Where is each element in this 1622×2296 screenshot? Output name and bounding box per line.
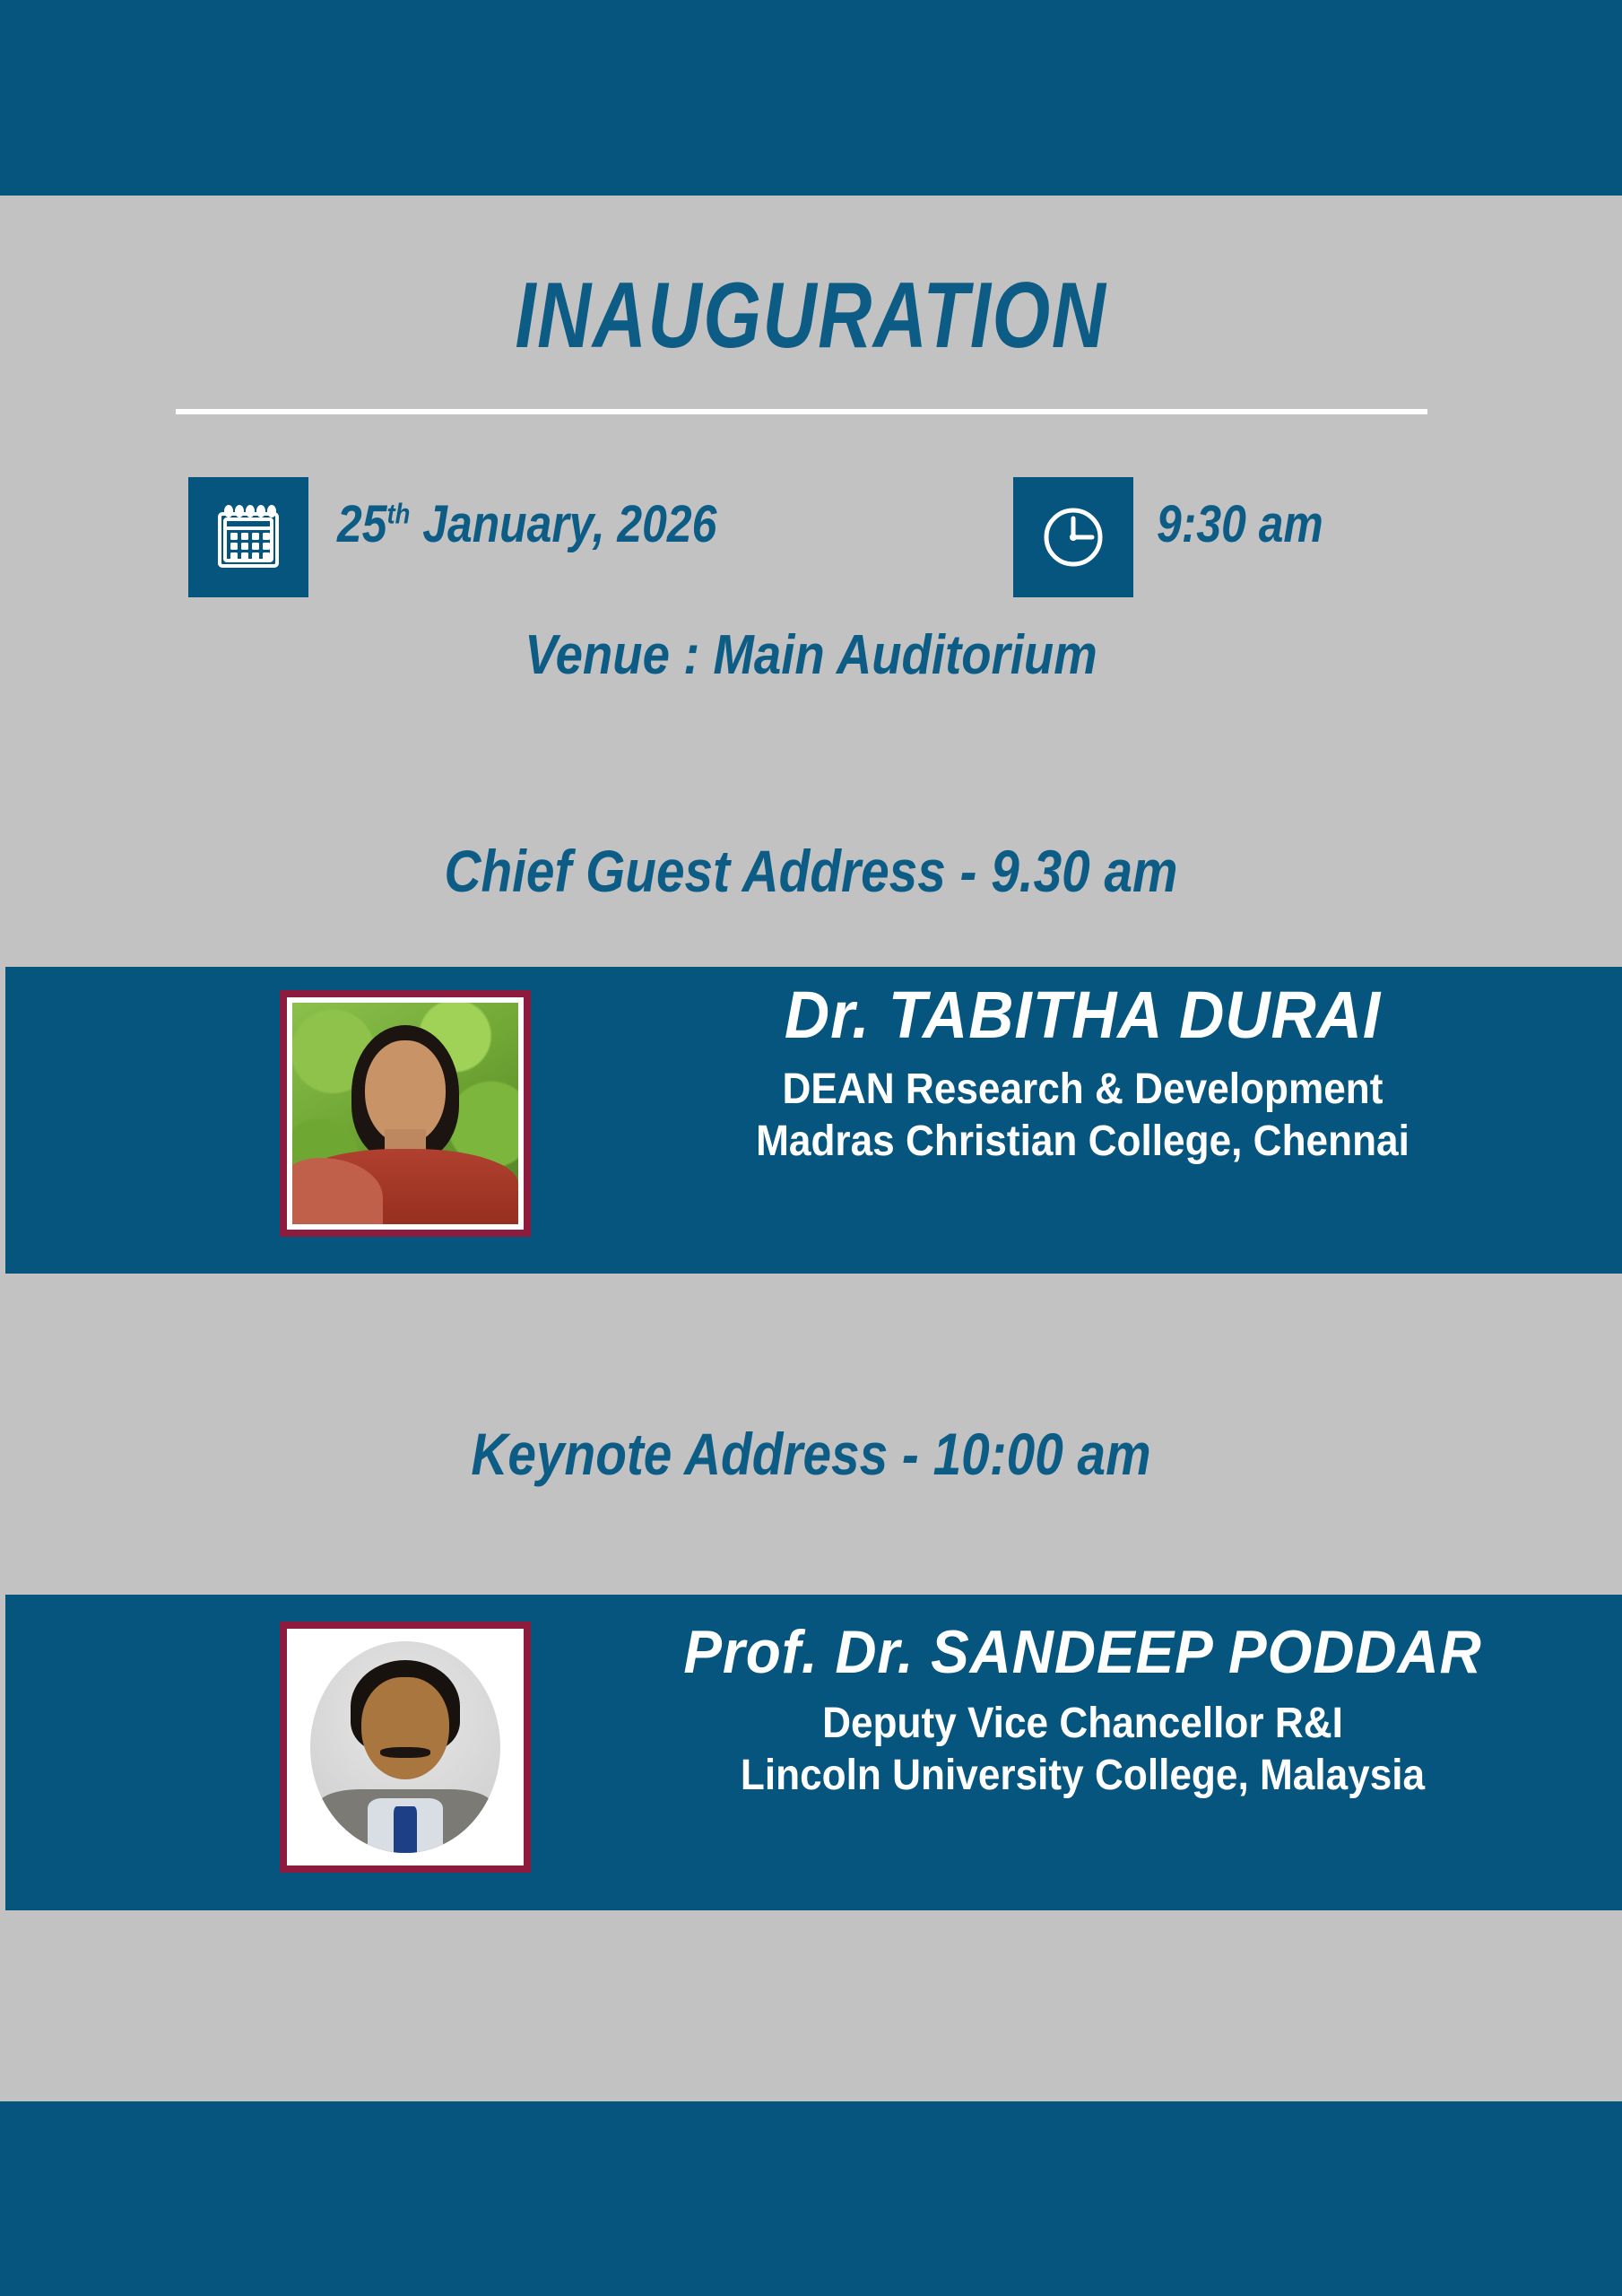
event-venue: Venue : Main Auditorium [98, 628, 1525, 683]
speaker-card-chief-guest: Dr. TABITHA DURAI DEAN Research & Develo… [5, 967, 1622, 1274]
top-decorative-band [0, 0, 1622, 196]
speaker-name: Dr. TABITHA DURAI [593, 979, 1573, 1051]
speaker-role: Deputy Vice Chancellor R&I [603, 1698, 1563, 1750]
event-date-day: 25 [337, 495, 386, 553]
page-title: INAUGURATION [162, 269, 1460, 362]
avatar [292, 1634, 518, 1860]
speaker-role: DEAN Research & Development [603, 1064, 1563, 1116]
calendar-icon [210, 499, 287, 576]
clock-icon [1037, 500, 1110, 574]
speaker-card-keynote: Prof. Dr. SANDEEP PODDAR Deputy Vice Cha… [5, 1595, 1622, 1910]
event-meta-row: 25th January, 2026 9:30 am [0, 477, 1622, 603]
clock-icon-box [1013, 477, 1133, 597]
event-time: 9:30 am [1157, 499, 1323, 551]
speaker-details: Prof. Dr. SANDEEP PODDAR Deputy Vice Cha… [561, 1620, 1604, 1802]
speaker-photo-frame [280, 990, 531, 1237]
section-heading-keynote: Keynote Address - 10:00 am [114, 1424, 1509, 1483]
speaker-details: Dr. TABITHA DURAI DEAN Research & Develo… [561, 979, 1604, 1167]
speaker-organization: Lincoln University College, Malaysia [603, 1750, 1563, 1802]
speaker-organization: Madras Christian College, Chennai [603, 1116, 1563, 1168]
section-heading-chief-guest: Chief Guest Address - 9.30 am [114, 841, 1509, 900]
bottom-decorative-band [0, 2101, 1622, 2296]
speaker-name: Prof. Dr. SANDEEP PODDAR [593, 1620, 1573, 1685]
title-divider [176, 409, 1427, 414]
event-date: 25th January, 2026 [337, 499, 716, 551]
calendar-icon-box [188, 477, 308, 597]
inauguration-poster: INAUGURATION [0, 0, 1622, 2296]
speaker-photo-frame [280, 1622, 531, 1873]
event-date-rest: January, 2026 [410, 495, 716, 553]
event-date-ordinal: th [386, 498, 410, 530]
avatar [292, 1003, 518, 1224]
